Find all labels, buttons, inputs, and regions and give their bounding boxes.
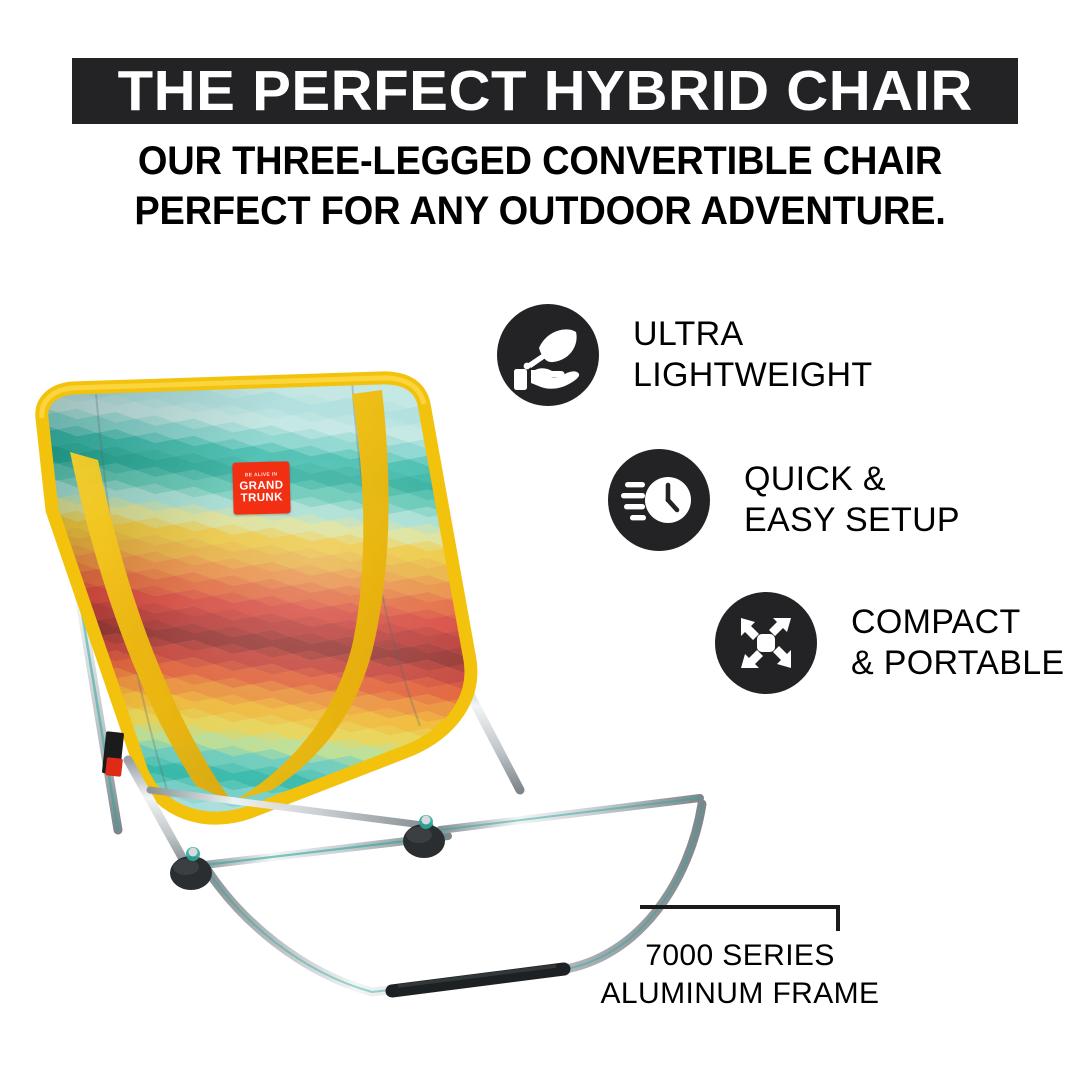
feature-3-label: COMPACT & PORTABLE (851, 602, 1064, 684)
feature-2-circle (608, 449, 710, 551)
feature-1-label: ULTRA LIGHTWEIGHT (633, 314, 872, 396)
fast-clock-icon (608, 449, 710, 551)
leader-tick (836, 905, 840, 931)
feature-compact-portable: COMPACT & PORTABLE (715, 592, 1064, 694)
feature-1-label-line-2: LIGHTWEIGHT (633, 355, 872, 396)
subtitle-line-2: PERFECT FOR ANY OUTDOOR ADVENTURE. (27, 186, 1053, 236)
feature-2-label-line-1: QUICK & (744, 459, 960, 500)
subtitle-line-1: OUR THREE-LEGGED CONVERTIBLE CHAIR (27, 136, 1053, 186)
brand-name-line-1: GRAND (239, 479, 283, 492)
title-banner: THE PERFECT HYBRID CHAIR (72, 58, 1018, 124)
feature-ultra-lightweight: ULTRA LIGHTWEIGHT (497, 304, 872, 406)
feature-3-label-line-2: & PORTABLE (851, 643, 1064, 684)
callout-line-1: 7000 SERIES (530, 937, 950, 975)
feature-1-circle (497, 304, 599, 406)
callout-line-2: ALUMINUM FRAME (530, 975, 950, 1013)
feature-2-label-line-2: EASY SETUP (744, 500, 960, 541)
callout-text: 7000 SERIES ALUMINUM FRAME (530, 937, 950, 1013)
page-title: THE PERFECT HYBRID CHAIR (117, 63, 972, 120)
brand-label-patch: BE ALIVE IN GRAND TRUNK (232, 461, 290, 514)
feature-quick-easy-setup: QUICK & EASY SETUP (608, 449, 960, 551)
brand-name-line-2: TRUNK (240, 491, 283, 504)
aluminum-frame-callout: 7000 SERIES ALUMINUM FRAME (640, 905, 840, 933)
feather-in-hand-icon (497, 304, 599, 406)
feature-2-label: QUICK & EASY SETUP (744, 459, 960, 541)
feature-3-circle (715, 592, 817, 694)
callout-leader-line (640, 905, 840, 933)
brand-tagline: BE ALIVE IN (245, 471, 278, 478)
infographic-page: THE PERFECT HYBRID CHAIR OUR THREE-LEGGE… (0, 0, 1080, 1080)
feature-3-label-line-1: COMPACT (851, 602, 1064, 643)
fabric-chevron-band (0, 808, 545, 885)
compress-arrows-icon (715, 592, 817, 694)
subtitle: OUR THREE-LEGGED CONVERTIBLE CHAIR PERFE… (0, 136, 1080, 236)
leader-horizontal (640, 905, 840, 909)
fabric-chevron-band-overlay (0, 811, 545, 882)
feature-1-label-line-1: ULTRA (633, 314, 872, 355)
